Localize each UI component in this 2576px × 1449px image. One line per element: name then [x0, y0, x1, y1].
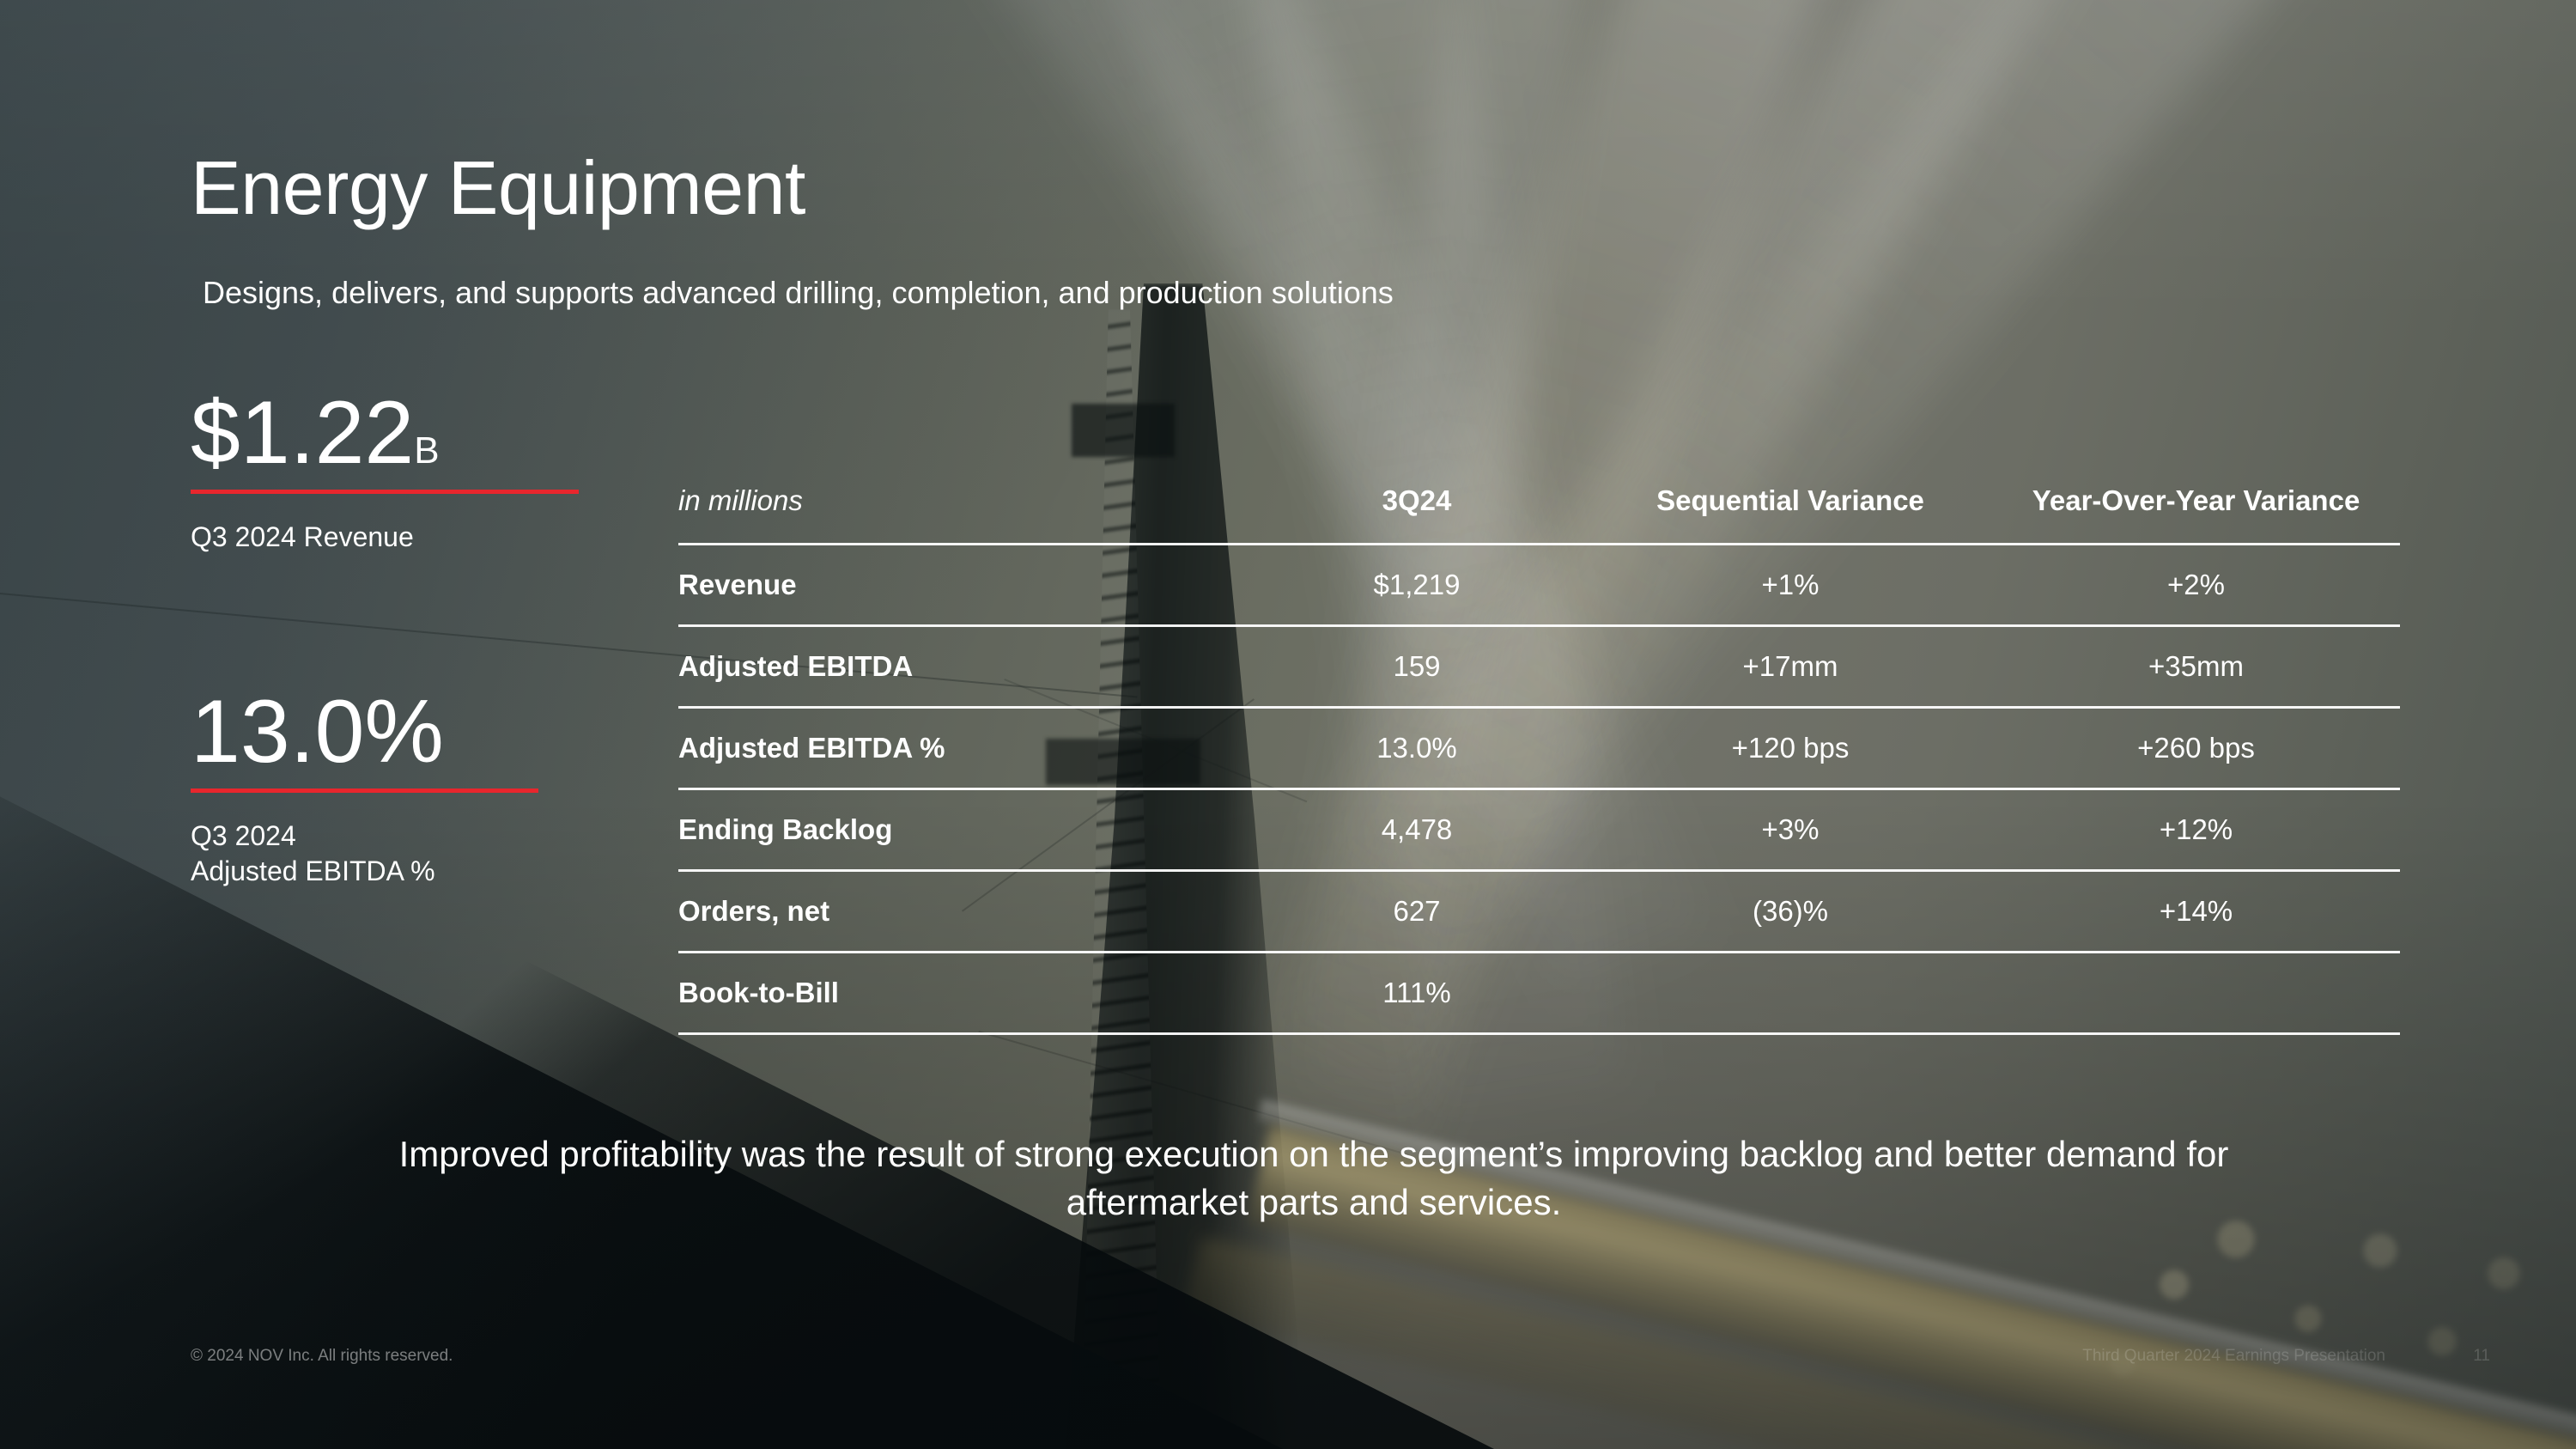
cell-revenue-yoy: +2% [1992, 545, 2400, 626]
metrics-table-head: in millions 3Q24 Sequential Variance Yea… [678, 464, 2400, 545]
table-row: Revenue $1,219 +1% +2% [678, 545, 2400, 626]
kpi-revenue-accent-rule [191, 490, 579, 494]
column-header-sequential-variance: Sequential Variance [1589, 464, 1992, 545]
page-subtitle: Designs, delivers, and supports advanced… [203, 275, 1394, 311]
cell-revenue-3q24: $1,219 [1245, 545, 1589, 626]
cell-adjusted-ebitda-pct-3q24: 13.0% [1245, 708, 1589, 789]
table-row: Adjusted EBITDA % 13.0% +120 bps +260 bp… [678, 708, 2400, 789]
page-title: Energy Equipment [191, 144, 805, 232]
cell-ending-backlog-yoy: +12% [1992, 789, 2400, 871]
footer-copyright: © 2024 NOV Inc. All rights reserved. [191, 1347, 453, 1366]
kpi-adjusted-ebitda-pct-label: Q3 2024 Adjusted EBITDA % [191, 819, 538, 889]
kpi-adjusted-ebitda-pct: 13.0% Q3 2024 Adjusted EBITDA % [191, 687, 538, 889]
cell-book-to-bill-sequential [1589, 953, 1992, 1034]
cell-adjusted-ebitda-pct-yoy: +260 bps [1992, 708, 2400, 789]
kpi-revenue: $1.22B Q3 2024 Revenue [191, 388, 579, 555]
table-row: Adjusted EBITDA 159 +17mm +35mm [678, 626, 2400, 708]
column-header-yoy-variance: Year-Over-Year Variance [1992, 464, 2400, 545]
kpi-adjusted-ebitda-pct-number: 13.0% [191, 682, 444, 782]
slide-content: Energy Equipment Designs, delivers, and … [0, 0, 2576, 1449]
metrics-table-body: Revenue $1,219 +1% +2% Adjusted EBITDA 1… [678, 545, 2400, 1034]
column-header-3q24: 3Q24 [1245, 464, 1589, 545]
cell-revenue-sequential: +1% [1589, 545, 1992, 626]
row-label-book-to-bill: Book-to-Bill [678, 953, 1245, 1034]
table-row: Ending Backlog 4,478 +3% +12% [678, 789, 2400, 871]
cell-orders-net-yoy: +14% [1992, 871, 2400, 953]
cell-adjusted-ebitda-yoy: +35mm [1992, 626, 2400, 708]
cell-orders-net-sequential: (36)% [1589, 871, 1992, 953]
cell-ending-backlog-3q24: 4,478 [1245, 789, 1589, 871]
table-row: Book-to-Bill 111% [678, 953, 2400, 1034]
table-row: Orders, net 627 (36)% +14% [678, 871, 2400, 953]
metrics-table: in millions 3Q24 Sequential Variance Yea… [678, 464, 2400, 1035]
table-header-row: in millions 3Q24 Sequential Variance Yea… [678, 464, 2400, 545]
kpi-revenue-label: Q3 2024 Revenue [191, 520, 579, 555]
kpi-adjusted-ebitda-pct-value: 13.0% [191, 687, 538, 776]
kpi-revenue-suffix: B [414, 429, 439, 472]
cell-book-to-bill-yoy [1992, 953, 2400, 1034]
cell-adjusted-ebitda-sequential: +17mm [1589, 626, 1992, 708]
kpi-revenue-value: $1.22B [191, 388, 579, 478]
cell-adjusted-ebitda-3q24: 159 [1245, 626, 1589, 708]
row-label-revenue: Revenue [678, 545, 1245, 626]
kpi-revenue-number: $1.22 [191, 383, 414, 483]
summary-caption: Improved profitability was the result of… [309, 1130, 2318, 1227]
row-label-orders-net: Orders, net [678, 871, 1245, 953]
presentation-slide: Energy Equipment Designs, delivers, and … [0, 0, 2576, 1449]
cell-adjusted-ebitda-pct-sequential: +120 bps [1589, 708, 1992, 789]
row-label-adjusted-ebitda: Adjusted EBITDA [678, 626, 1245, 708]
footer-page-number: 11 [2473, 1347, 2490, 1366]
cell-ending-backlog-sequential: +3% [1589, 789, 1992, 871]
cell-orders-net-3q24: 627 [1245, 871, 1589, 953]
column-header-in-millions: in millions [678, 464, 1245, 545]
row-label-adjusted-ebitda-pct: Adjusted EBITDA % [678, 708, 1245, 789]
footer-deck-name: Third Quarter 2024 Earnings Presentation [2082, 1347, 2385, 1366]
kpi-adjusted-ebitda-pct-accent-rule [191, 788, 538, 793]
row-label-ending-backlog: Ending Backlog [678, 789, 1245, 871]
cell-book-to-bill-3q24: 111% [1245, 953, 1589, 1034]
